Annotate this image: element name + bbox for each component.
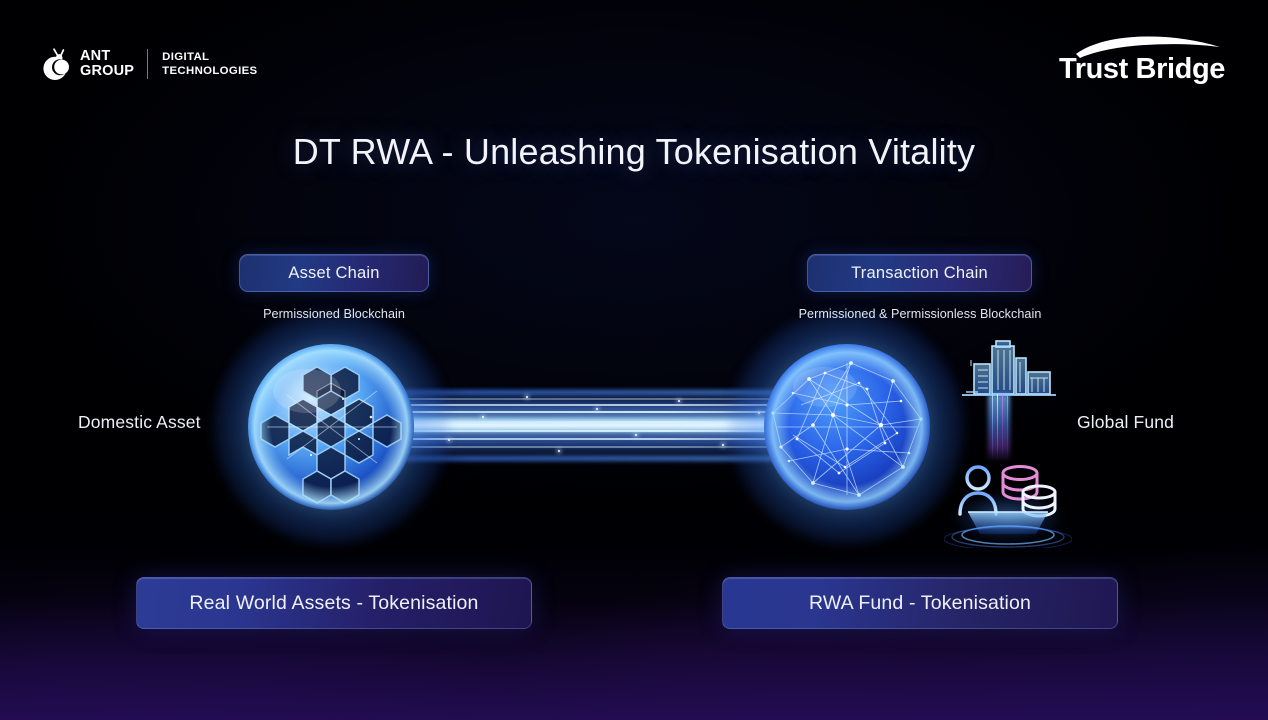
chain-sub-transaction: Permissioned & Permissionless Blockchain <box>770 307 1070 321</box>
side-label-domestic-asset: Domestic Asset <box>78 412 201 433</box>
background-bottom-gradient <box>0 545 1268 720</box>
dt-line2: TECHNOLOGIES <box>162 65 257 77</box>
button-real-world-assets-tokenisation[interactable]: Real World Assets - Tokenisation <box>136 577 532 629</box>
hexagon-sphere-icon <box>247 343 415 511</box>
digital-technologies-wordmark: DIGITAL TECHNOLOGIES <box>162 50 257 78</box>
side-label-global-fund: Global Fund <box>1077 412 1174 433</box>
coin-stack-icon <box>1003 467 1055 517</box>
network-globe-icon <box>763 343 931 511</box>
chain-sub-asset: Permissioned Blockchain <box>239 307 429 321</box>
ant-group-logo: ANT GROUP DIGITAL TECHNOLOGIES <box>41 42 258 86</box>
global-fund-icon-group <box>944 336 1072 548</box>
button-rwa-fund-tokenisation[interactable]: RWA Fund - Tokenisation <box>722 577 1118 629</box>
person-icon <box>960 467 996 514</box>
trust-bridge-logo: Trust Bridge <box>1044 33 1240 89</box>
dt-line1: DIGITAL <box>162 51 209 63</box>
ant-group-logo-icon <box>41 47 72 81</box>
ant-group-wordmark: ANT GROUP <box>80 49 134 79</box>
slide-canvas: ANT GROUP DIGITAL TECHNOLOGIES Trust Bri… <box>0 0 1268 720</box>
ant-word-line2: GROUP <box>80 63 134 79</box>
page-title: DT RWA - Unleashing Tokenisation Vitalit… <box>0 131 1268 173</box>
svg-text:Trust Bridge: Trust Bridge <box>1059 53 1225 85</box>
chain-pill-asset[interactable]: Asset Chain <box>239 254 429 292</box>
ant-word-line1: ANT <box>80 48 110 64</box>
glowing-platform-icon <box>944 512 1072 548</box>
chain-pill-transaction[interactable]: Transaction Chain <box>807 254 1032 292</box>
cityscape-icon <box>960 340 1058 402</box>
logo-divider <box>147 49 148 79</box>
